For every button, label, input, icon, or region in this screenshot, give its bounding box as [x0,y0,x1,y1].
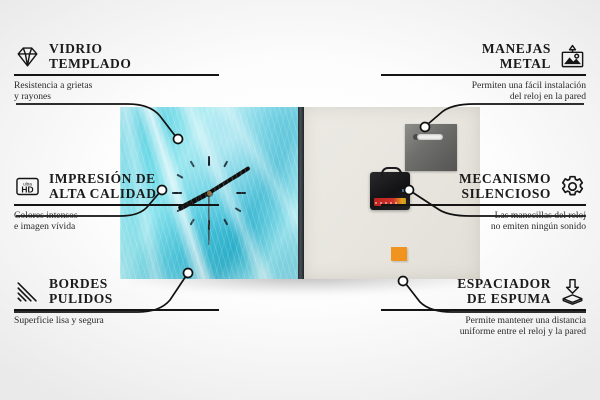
feature-head: VIDRIO TEMPLADO [14,42,219,71]
ultra-hd-icon: ultra HD [14,173,41,200]
feature-title: BORDES PULIDOS [49,277,113,306]
feature-subtitle: Permiten una fácil instalación del reloj… [381,80,586,103]
feature-title: MECANISMO SILENCIOSO [459,172,551,201]
feature-polished-edges: BORDES PULIDOS Superficie lisa y segura [14,277,219,326]
feature-silent-mechanism: MECANISMO SILENCIOSO Las manecillas del … [381,172,586,233]
feature-subtitle: Superficie lisa y segura [14,315,219,327]
feature-rule [14,74,219,76]
feature-rule [381,309,586,311]
feature-tempered-glass: VIDRIO TEMPLADO Resistencia a grietas y … [14,42,219,103]
feature-head: MANEJAS METAL [381,42,586,71]
feature-title: ESPACIADOR DE ESPUMA [457,277,551,306]
foam-spacer-icon [559,278,586,305]
gear-icon [559,173,586,200]
feature-subtitle: Colores intensos e imagen vívida [14,210,219,233]
diamond-icon [14,43,41,70]
feature-head: ESPACIADOR DE ESPUMA [381,277,586,306]
feature-subtitle: Las manecillas del reloj no emiten ningú… [381,210,586,233]
feature-head: BORDES PULIDOS [14,277,219,306]
feature-title: VIDRIO TEMPLADO [49,42,131,71]
svg-text:HD: HD [21,184,33,194]
feature-subtitle: Resistencia a grietas y rayones [14,80,219,103]
feature-rule [14,309,219,311]
feature-metal-hooks: MANEJAS METAL Permiten una fácil instala… [381,42,586,103]
metal-hanger-plate [405,124,457,171]
feature-title: MANEJAS METAL [482,42,551,71]
feature-head: ultra HD IMPRESIÓN DE ALTA CALIDAD [14,172,219,201]
hanger-slot [417,134,443,140]
product-infographic: VIDRIO TEMPLADO Resistencia a grietas y … [0,0,600,400]
feature-head: MECANISMO SILENCIOSO [381,172,586,201]
feature-high-quality-print: ultra HD IMPRESIÓN DE ALTA CALIDAD Color… [14,172,219,233]
picture-hanger-icon [559,43,586,70]
feature-title: IMPRESIÓN DE ALTA CALIDAD [49,172,157,201]
polished-edges-icon [14,278,41,305]
feature-rule [381,204,586,206]
feature-subtitle: Permite mantener una distancia uniforme … [381,315,586,338]
feature-rule [14,204,219,206]
feature-rule [381,74,586,76]
foam-spacer [391,247,407,261]
feature-foam-spacer: ESPACIADOR DE ESPUMA Permite mantener un… [381,277,586,338]
